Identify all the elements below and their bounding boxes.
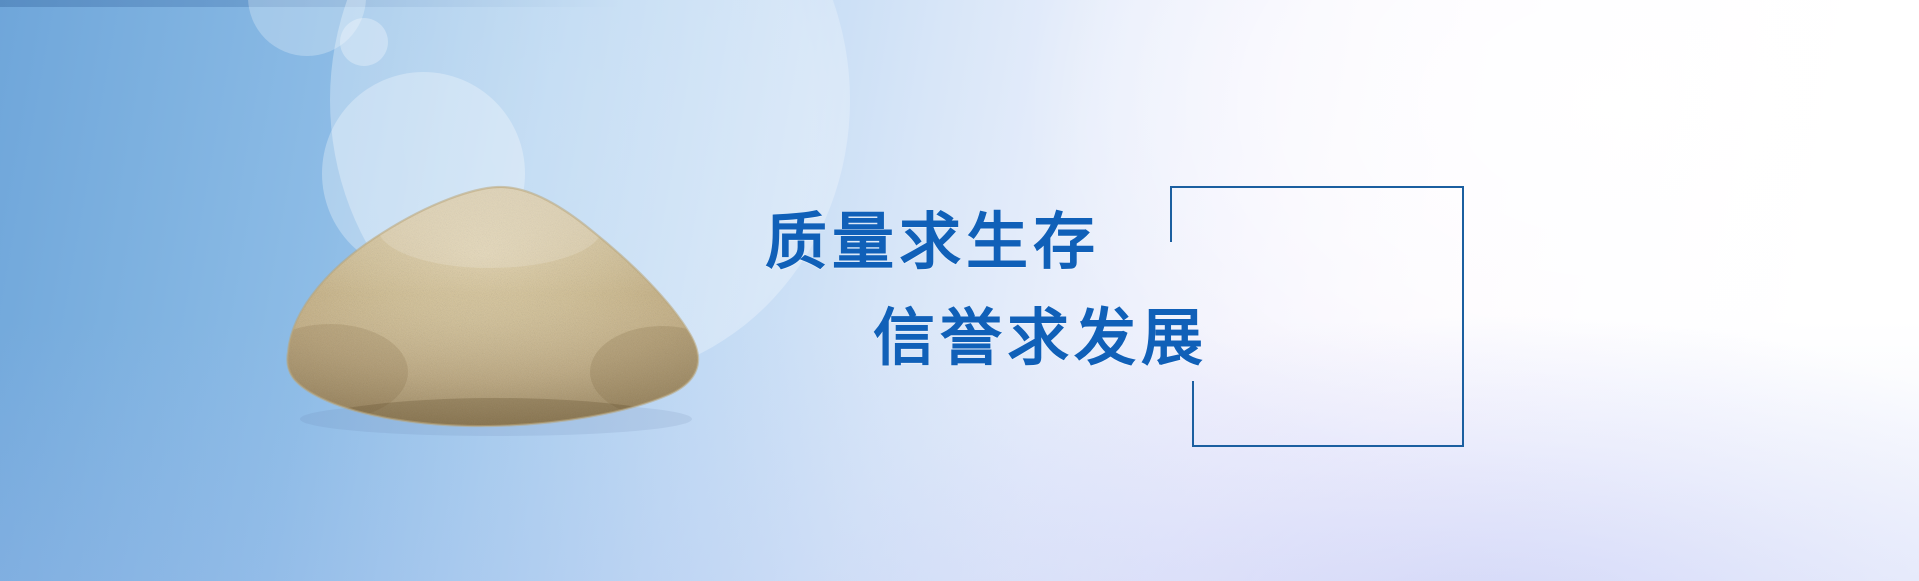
decorative-frame: [1170, 186, 1464, 447]
headline-line-1: 质量求生存: [765, 212, 1100, 274]
hero-banner: 质量求生存 信誉求发展: [0, 0, 1919, 581]
frame-right-edge: [1462, 186, 1464, 447]
frame-top-edge: [1170, 186, 1464, 188]
frame-left-bottom-segment: [1192, 381, 1194, 447]
sand-pile-image: [258, 176, 728, 438]
frame-bottom-edge: [1192, 445, 1464, 447]
frame-left-top-segment: [1170, 186, 1172, 242]
bubble-small-icon: [340, 18, 388, 66]
headline-line-2: 信誉求发展: [873, 308, 1208, 370]
